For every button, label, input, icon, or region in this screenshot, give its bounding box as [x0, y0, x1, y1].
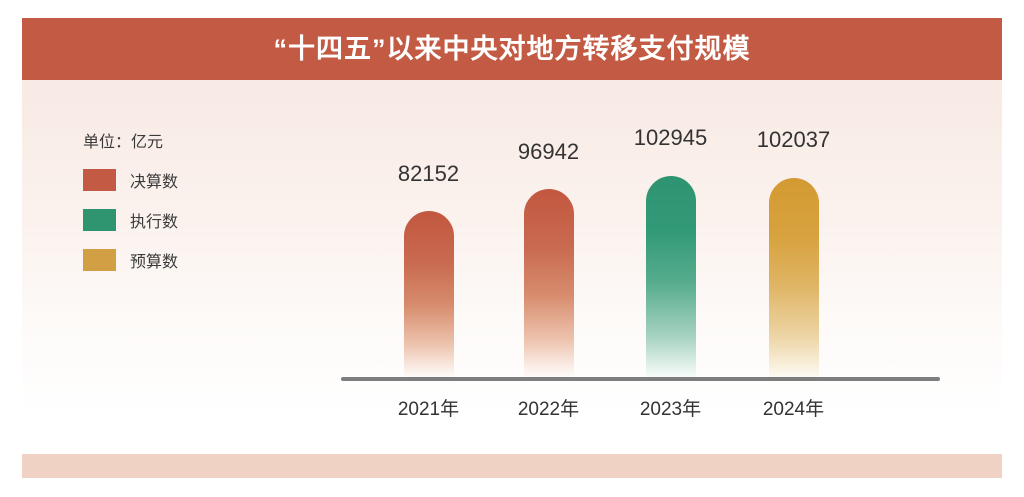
x-axis-tick-label-2024: 2024年: [732, 394, 855, 421]
bar[interactable]: [769, 178, 819, 382]
legend-swatch-icon: [83, 249, 116, 271]
legend-item-label: 执行数: [130, 208, 178, 232]
legend-swatch-icon: [83, 169, 116, 191]
bar-value-label: 96942: [487, 139, 610, 165]
legend-item-label: 决算数: [130, 168, 178, 192]
bar-value-label: 102945: [609, 125, 732, 151]
x-axis-tick-label-2022: 2022年: [487, 394, 610, 421]
legend-item-budget[interactable]: 预算数: [83, 248, 283, 272]
legend-swatch-icon: [83, 209, 116, 231]
footer-accent-strip: [22, 454, 1002, 478]
bar-group: 102037: [732, 100, 855, 382]
bar-group: 82152: [367, 100, 490, 382]
x-axis-tick-label-2023: 2023年: [609, 394, 732, 421]
bar[interactable]: [404, 211, 454, 382]
bar[interactable]: [524, 189, 574, 382]
bar[interactable]: [646, 176, 696, 382]
x-axis-line: [341, 377, 940, 381]
bar-value-label: 102037: [732, 127, 855, 153]
x-axis-tick-label-2021: 2021年: [367, 394, 490, 421]
legend-item-label: 预算数: [130, 248, 178, 272]
infographic-canvas: “十四五”以来中央对地方转移支付规模 单位：亿元 决算数 执行数 预算数 821…: [0, 0, 1024, 497]
title-banner: “十四五”以来中央对地方转移支付规模: [22, 18, 1002, 80]
legend-item-final-accounts[interactable]: 决算数: [83, 168, 283, 192]
bar-value-label: 82152: [367, 161, 490, 187]
legend-unit-label: 单位：亿元: [83, 128, 283, 152]
legend: 单位：亿元 决算数 执行数 预算数: [83, 128, 283, 288]
bar-group: 102945: [609, 100, 732, 382]
bar-group: 96942: [487, 100, 610, 382]
page-title: “十四五”以来中央对地方转移支付规模: [274, 36, 751, 63]
plot-area: 82152 96942 102945 102037: [341, 100, 941, 382]
legend-item-execution[interactable]: 执行数: [83, 208, 283, 232]
